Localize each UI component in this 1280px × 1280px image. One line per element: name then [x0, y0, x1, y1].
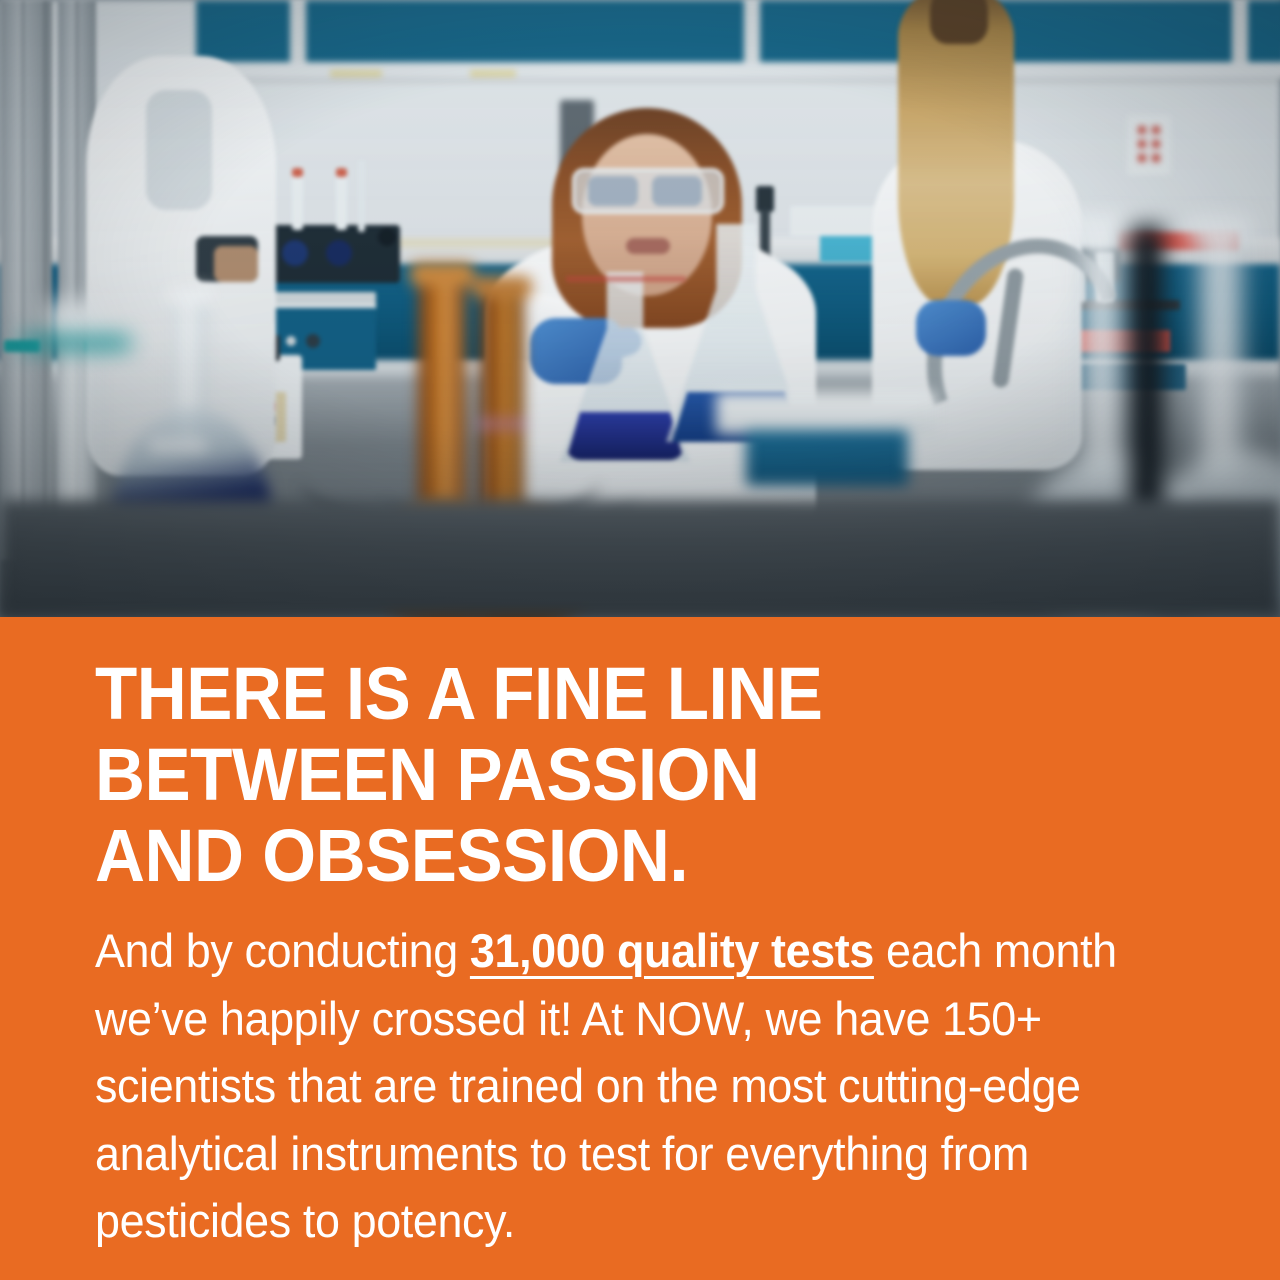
- page-title: THERE IS A FINE LINE BETWEEN PASSION AND…: [95, 653, 1133, 896]
- quality-tests-emphasis: 31,000 quality tests: [470, 924, 874, 977]
- lab-photo: 500: [0, 0, 1280, 617]
- promo-poster: 500: [0, 0, 1280, 1280]
- orange-message-panel: THERE IS A FINE LINE BETWEEN PASSION AND…: [0, 617, 1280, 1280]
- lab-scene: 500: [0, 0, 1280, 617]
- body-copy: And by conducting 31,000 quality tests e…: [95, 917, 1136, 1255]
- body-lead: And by conducting: [95, 924, 470, 977]
